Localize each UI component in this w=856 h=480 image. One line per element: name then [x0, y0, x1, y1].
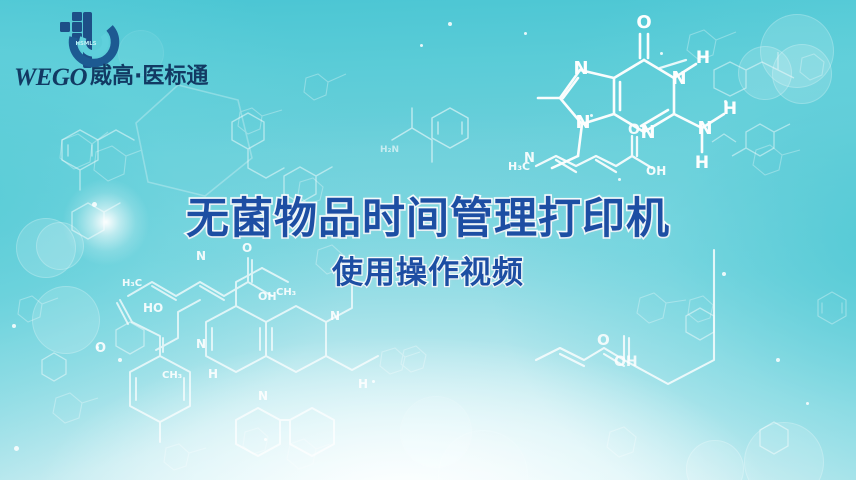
slide-canvas: O HO N N N N CH₃ CH₃ H H H₃C O OH — [0, 0, 856, 480]
page-subtitle: 使用操作视频 — [0, 256, 856, 290]
wego-logo-mark-icon: HSMLS — [56, 12, 120, 68]
brand-logo[interactable]: HSMLS WEGO 威高·医标通 — [14, 12, 204, 92]
wordmark-latin: WEGO — [14, 65, 87, 90]
logo-mark-inner-text: HSMLS — [75, 41, 96, 47]
wordmark-chinese: 威高·医标通 — [90, 66, 208, 88]
title-block: 无菌物品时间管理打印机 使用操作视频 — [0, 196, 856, 290]
page-title: 无菌物品时间管理打印机 — [0, 196, 856, 243]
wego-wordmark: WEGO 威高·医标通 — [14, 62, 204, 92]
